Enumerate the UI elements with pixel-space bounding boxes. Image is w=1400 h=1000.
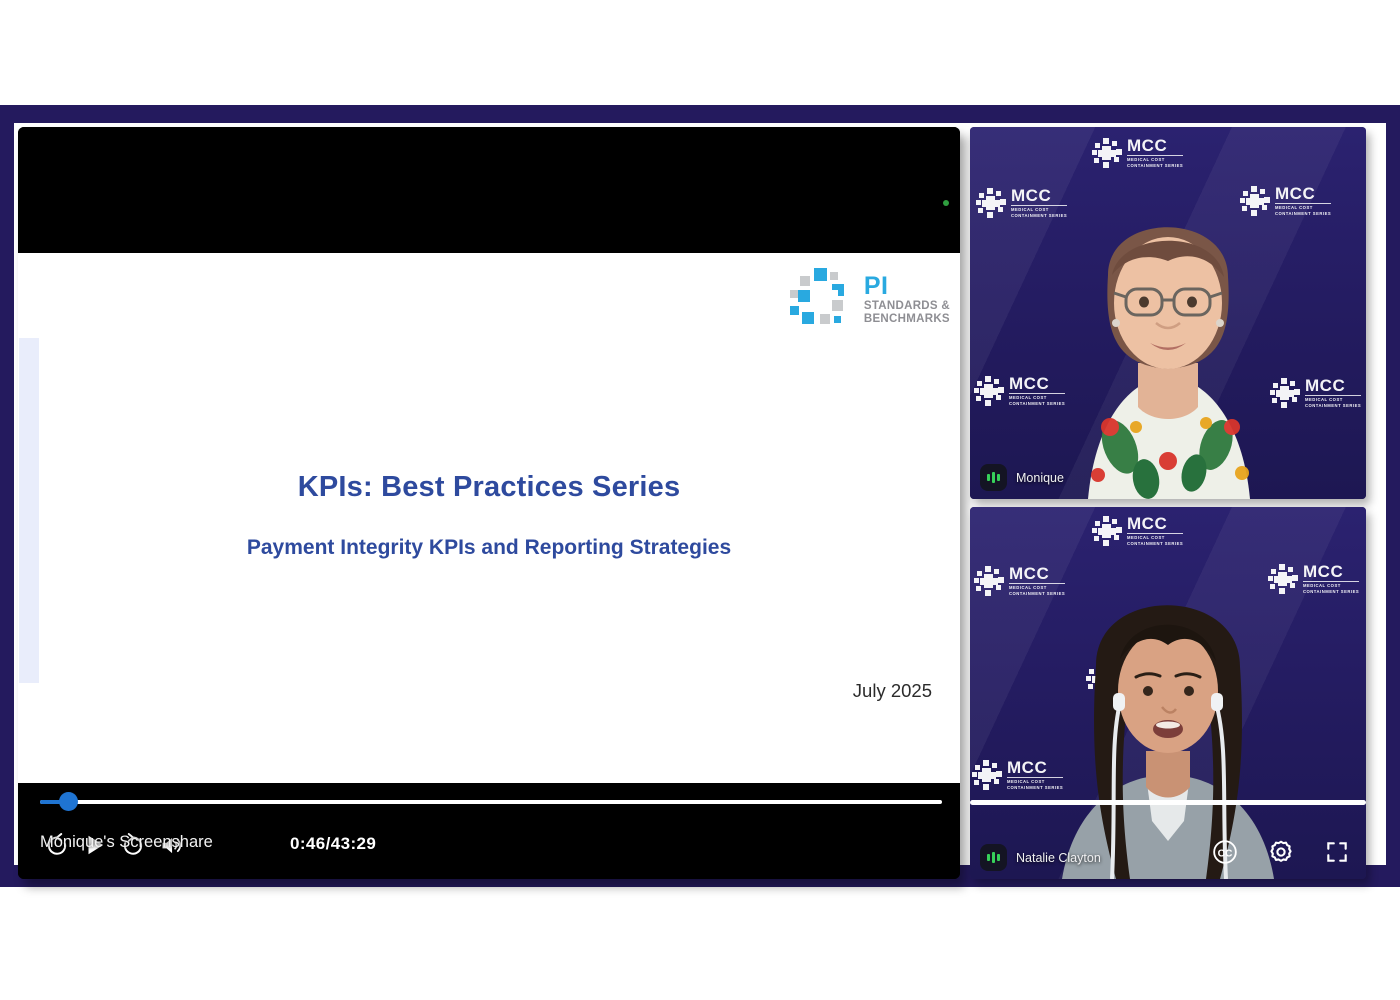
fullscreen-button[interactable] <box>1322 837 1352 867</box>
volume-icon <box>158 832 185 859</box>
pi-logo-text: PI STANDARDS & BENCHMARKS <box>864 273 950 325</box>
screenshare-letterbox-top <box>18 127 960 253</box>
player-window-frame: PI STANDARDS & BENCHMARKS KPIs: Best Pra… <box>0 105 1400 887</box>
time-readout: 0:46/43:29 <box>290 834 376 854</box>
pi-standards-benchmarks-logo: PI STANDARDS & BENCHMARKS <box>788 266 950 332</box>
pi-logo-line-2: BENCHMARKS <box>864 313 950 325</box>
slide-date: July 2025 <box>853 680 932 702</box>
volume-button[interactable] <box>152 826 190 864</box>
participant-video-monique <box>970 127 1366 499</box>
seek-track[interactable] <box>40 800 942 804</box>
nameplate-monique: Monique <box>980 464 1064 491</box>
player-inner-surface: PI STANDARDS & BENCHMARKS KPIs: Best Pra… <box>14 123 1386 865</box>
seek-bar[interactable] <box>40 795 942 809</box>
settings-button[interactable] <box>1266 837 1296 867</box>
slide-subtitle: Payment Integrity KPIs and Reporting Str… <box>18 536 960 560</box>
player-right-controls: CC <box>1210 837 1352 867</box>
participant-tile-monique[interactable]: MCC MEDICAL COST CONTAINMENT SERIES <box>970 127 1366 499</box>
forward-10-button[interactable] <box>114 826 152 864</box>
gear-icon <box>1267 838 1295 866</box>
microphone-active-icon <box>980 464 1007 491</box>
play-icon <box>82 832 108 858</box>
slide-left-accent-bar <box>19 338 39 683</box>
player-progress-bar[interactable] <box>970 800 1366 805</box>
participant-tile-natalie-clayton[interactable]: MCC MEDICAL COST CONTAINMENT SERIES <box>970 507 1366 879</box>
svg-text:CC: CC <box>1218 848 1233 859</box>
participant-column: MCC MEDICAL COST CONTAINMENT SERIES <box>970 127 1366 879</box>
pi-logo-line-1: STANDARDS & <box>864 300 950 312</box>
slide-title: KPIs: Best Practices Series <box>18 471 960 504</box>
recording-indicator-dot <box>943 200 949 206</box>
rewind-10-icon <box>42 830 72 860</box>
participant-video-natalie <box>970 507 1366 879</box>
closed-captions-button[interactable]: CC <box>1210 837 1240 867</box>
seek-thumb[interactable] <box>59 792 78 811</box>
screenshare-pane[interactable]: PI STANDARDS & BENCHMARKS KPIs: Best Pra… <box>18 127 960 879</box>
cc-icon: CC <box>1212 839 1238 865</box>
play-button[interactable] <box>76 826 114 864</box>
fullscreen-icon <box>1324 839 1350 865</box>
pi-logo-primary: PI <box>864 272 889 300</box>
playback-controls <box>38 825 190 865</box>
nameplate-natalie-clayton: Natalie Clayton <box>980 844 1101 871</box>
page-root: PI STANDARDS & BENCHMARKS KPIs: Best Pra… <box>0 0 1400 1000</box>
forward-10-icon <box>118 830 148 860</box>
participant-name: Natalie Clayton <box>1016 851 1101 865</box>
pi-pixel-cross-icon <box>788 266 854 332</box>
participant-name: Monique <box>1016 471 1064 485</box>
screenshare-controls-bar: Monique's Screenshare 0:46/43:29 <box>18 785 960 879</box>
rewind-10-button[interactable] <box>38 826 76 864</box>
microphone-active-icon <box>980 844 1007 871</box>
presentation-slide: PI STANDARDS & BENCHMARKS KPIs: Best Pra… <box>18 253 960 783</box>
